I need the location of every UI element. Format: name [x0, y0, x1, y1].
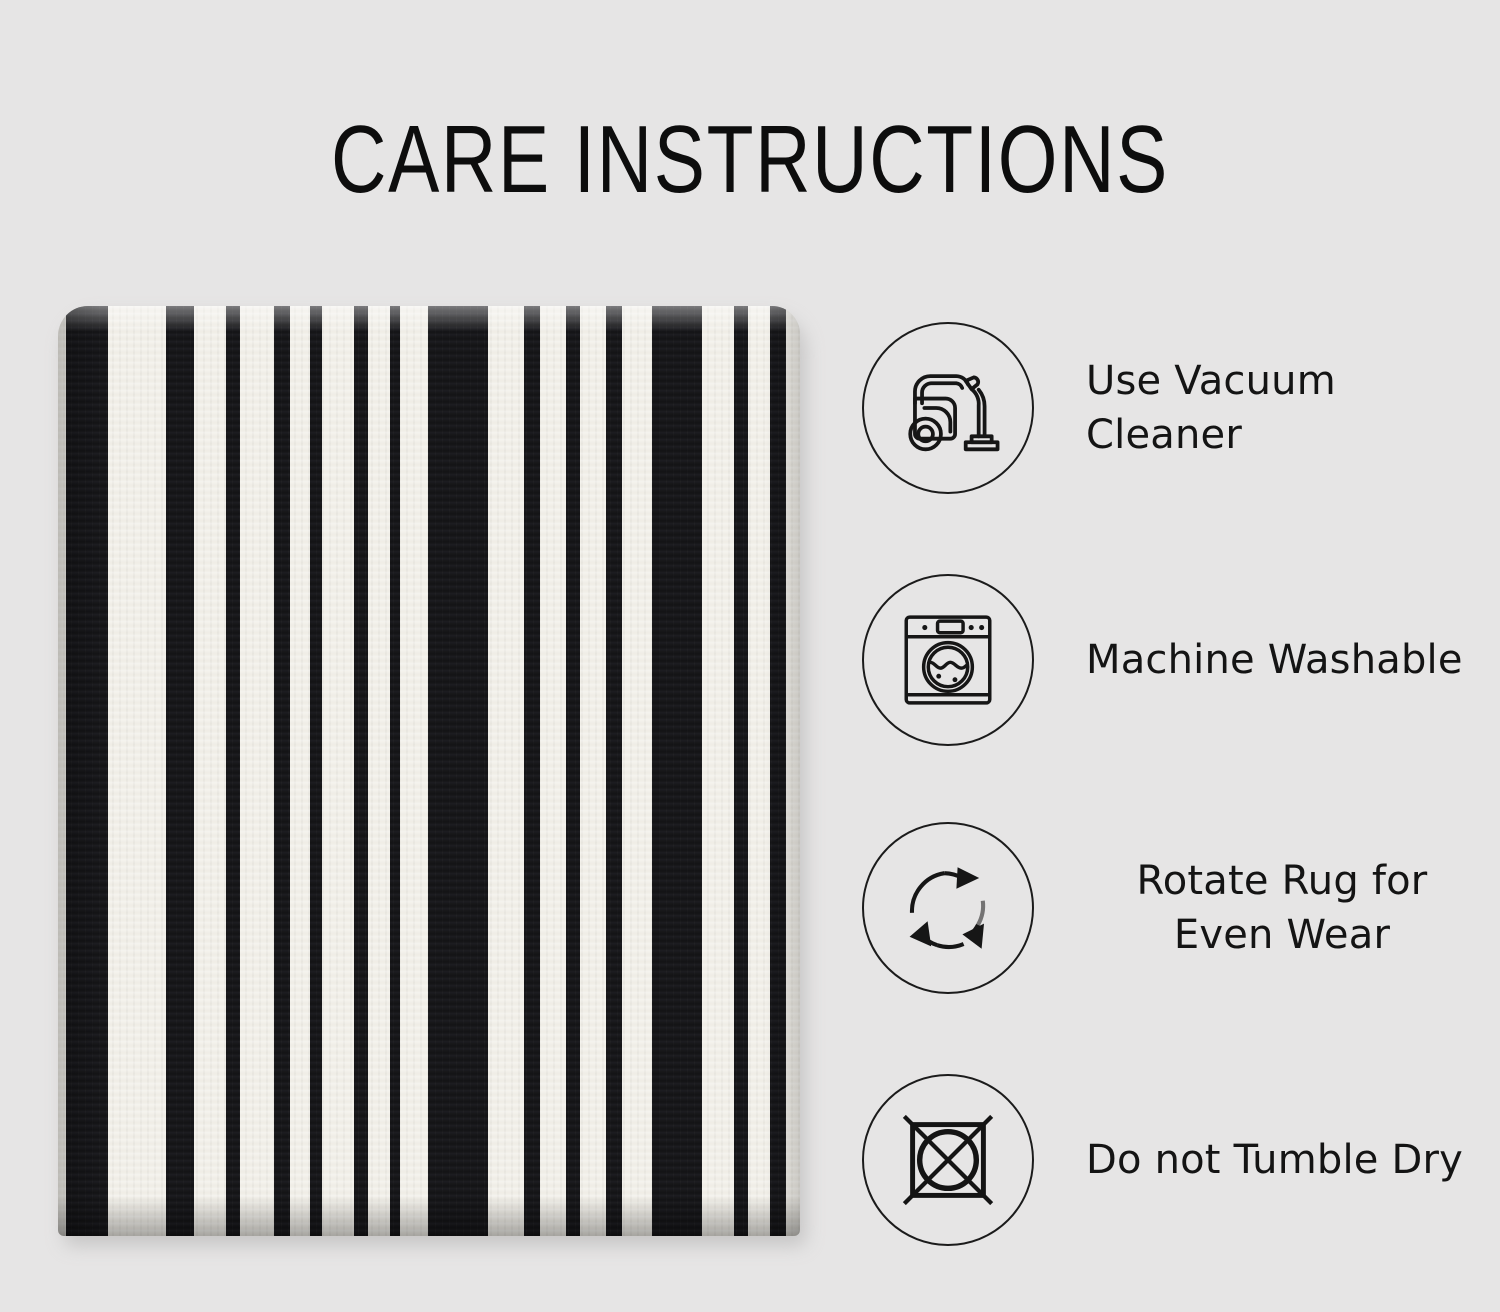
care-item-machine-washable: Machine Washable	[862, 572, 1482, 748]
washing-machine-icon	[862, 574, 1034, 746]
rug-stripe	[652, 306, 702, 1236]
care-item-do-not-tumble-dry: Do not Tumble Dry	[862, 1072, 1482, 1248]
rug-stripe	[354, 306, 368, 1236]
care-item-label: Machine Washable	[1086, 633, 1463, 687]
rug-stripe	[566, 306, 580, 1236]
rug-stripe	[770, 306, 786, 1236]
rug-stripe	[310, 306, 322, 1236]
rug-stripe	[734, 306, 748, 1236]
care-item-rotate-rug: Rotate Rug for Even Wear	[862, 820, 1482, 996]
rug-stripe	[428, 306, 488, 1236]
rug-stripe	[166, 306, 194, 1236]
do-not-tumble-dry-icon	[862, 1074, 1034, 1246]
rotate-arrows-icon	[862, 822, 1034, 994]
rug-stripe	[66, 306, 108, 1236]
care-item-label: Use Vacuum Cleaner	[1086, 354, 1482, 462]
care-item-use-vacuum-cleaner: Use Vacuum Cleaner	[862, 320, 1482, 496]
care-item-label: Do not Tumble Dry	[1086, 1133, 1463, 1187]
page-title: CARE INSTRUCTIONS	[150, 108, 1350, 212]
rug-stripe	[390, 306, 400, 1236]
rug-stripe	[606, 306, 622, 1236]
rug-stripe	[226, 306, 240, 1236]
rug-stripe	[524, 306, 540, 1236]
care-instructions-page: CARE INSTRUCTIONS	[0, 0, 1500, 1312]
rug-stripe	[274, 306, 290, 1236]
rug-surface	[58, 306, 800, 1236]
vacuum-cleaner-icon	[862, 322, 1034, 494]
care-item-label: Rotate Rug for Even Wear	[1086, 854, 1478, 962]
product-image-rug	[58, 306, 803, 1241]
